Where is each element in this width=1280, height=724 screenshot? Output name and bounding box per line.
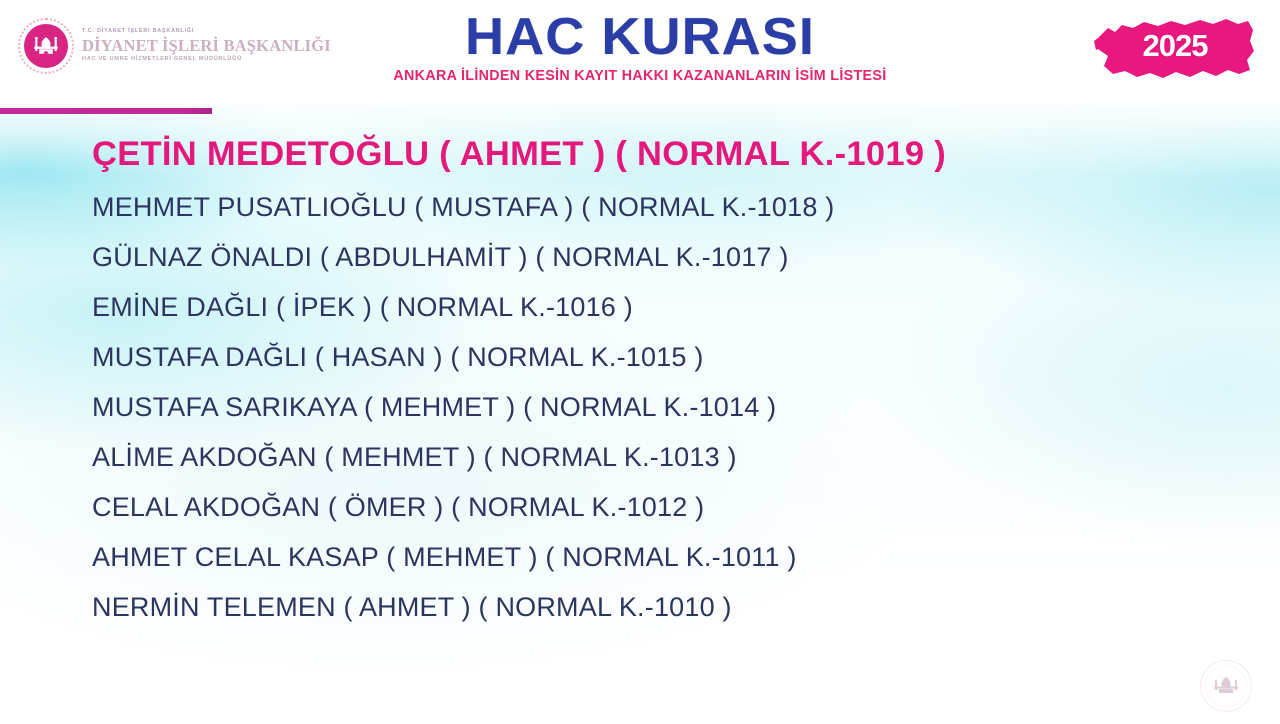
list-item-label: EMİNE DAĞLI ( İPEK ) ( NORMAL K.-1016 ) (92, 292, 633, 323)
list-item-label: MUSTAFA SARIKAYA ( MEHMET ) ( NORMAL K.-… (92, 392, 776, 423)
list-item: GÜLNAZ ÖNALDI ( ABDULHAMİT ) ( NORMAL K.… (0, 232, 1280, 282)
list-item: ALİME AKDOĞAN ( MEHMET ) ( NORMAL K.-101… (0, 432, 1280, 482)
year-label: 2025 (1092, 8, 1258, 90)
list-item-label: AHMET CELAL KASAP ( MEHMET ) ( NORMAL K.… (92, 542, 797, 573)
header-accent-rule (0, 108, 212, 114)
slide-canvas: T.C. DİYANET İŞLERİ BAŞKANLIĞI DİYANET İ… (0, 0, 1280, 724)
diyanet-seal-icon (1200, 660, 1252, 712)
list-item-label: NERMİN TELEMEN ( AHMET ) ( NORMAL K.-101… (92, 592, 732, 623)
title-block: HAC KURASI ANKARA İLİNDEN KESİN KAYIT HA… (0, 12, 1280, 84)
list-item-label: MEHMET PUSATLIOĞLU ( MUSTAFA ) ( NORMAL … (92, 192, 834, 223)
list-item: EMİNE DAĞLI ( İPEK ) ( NORMAL K.-1016 ) (0, 282, 1280, 332)
page-subtitle: ANKARA İLİNDEN KESİN KAYIT HAKKI KAZANAN… (6, 68, 1273, 84)
list-item: CELAL AKDOĞAN ( ÖMER ) ( NORMAL K.-1012 … (0, 482, 1280, 532)
list-item: MUSTAFA DAĞLI ( HASAN ) ( NORMAL K.-1015… (0, 332, 1280, 382)
year-badge: 2025 (1092, 8, 1258, 90)
list-item: ÇETİN MEDETOĞLU ( AHMET ) ( NORMAL K.-10… (0, 126, 1280, 182)
list-item: MEHMET PUSATLIOĞLU ( MUSTAFA ) ( NORMAL … (0, 182, 1280, 232)
page-title: HAC KURASI (0, 12, 1280, 63)
winners-name-list: ÇETİN MEDETOĞLU ( AHMET ) ( NORMAL K.-10… (0, 126, 1280, 632)
list-item: MUSTAFA SARIKAYA ( MEHMET ) ( NORMAL K.-… (0, 382, 1280, 432)
list-item: AHMET CELAL KASAP ( MEHMET ) ( NORMAL K.… (0, 532, 1280, 582)
list-item-label: ALİME AKDOĞAN ( MEHMET ) ( NORMAL K.-101… (92, 442, 737, 473)
slide-header: T.C. DİYANET İŞLERİ BAŞKANLIĞI DİYANET İ… (0, 0, 1280, 104)
list-item-label: ÇETİN MEDETOĞLU ( AHMET ) ( NORMAL K.-10… (92, 135, 946, 174)
list-item-label: MUSTAFA DAĞLI ( HASAN ) ( NORMAL K.-1015… (92, 342, 704, 373)
list-item: NERMİN TELEMEN ( AHMET ) ( NORMAL K.-101… (0, 582, 1280, 632)
list-item-label: CELAL AKDOĞAN ( ÖMER ) ( NORMAL K.-1012 … (92, 492, 704, 523)
list-item-label: GÜLNAZ ÖNALDI ( ABDULHAMİT ) ( NORMAL K.… (92, 242, 789, 273)
